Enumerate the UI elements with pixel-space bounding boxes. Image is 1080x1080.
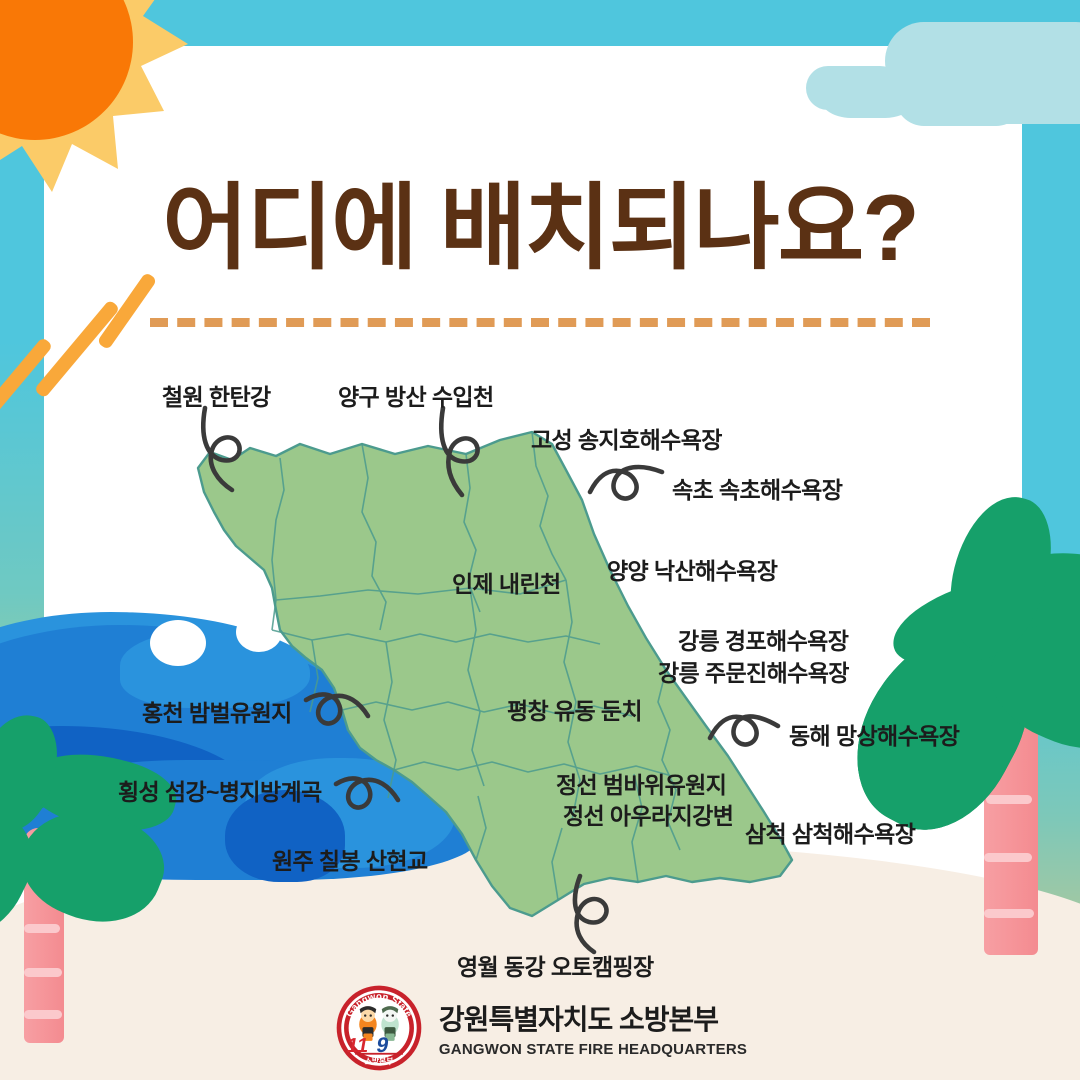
footer: Gangwon State 11: [0, 978, 1080, 1078]
map-label-jeongseon-auraji: 정선 아우라지강변: [563, 797, 733, 831]
map-label-yanggu: 양구 방산 수입천: [338, 378, 494, 412]
map-label-goseong: 고성 송지호해수욕장: [531, 421, 722, 455]
footer-org-kr: 강원특별자치도 소방본부: [439, 998, 747, 1038]
map-label-samcheok: 삼척 삼척해수욕장: [745, 815, 915, 849]
map-label-yeongwol: 영월 동강 오토캠핑장: [457, 948, 654, 982]
map-label-yangyang: 양양 낙산해수욕장: [607, 552, 777, 586]
map-label-donghae: 동해 망상해수욕장: [789, 717, 959, 751]
map-label-cheorwon: 철원 한탄강: [162, 378, 271, 412]
map-label-sokcho: 속초 속초해수욕장: [672, 471, 842, 505]
map-label-hongcheon: 홍천 밤벌유원지: [142, 694, 292, 728]
map-label-gangneung-jumunjin: 강릉 주문진해수욕장: [658, 654, 849, 688]
palm-tree-icon-right: [880, 505, 1080, 925]
poster-canvas: 어디에 배치되나요?: [0, 0, 1080, 1080]
logo-bottom-text: 소방본부: [365, 1056, 394, 1066]
map-label-hoengseong: 횡성 섬강~병지방계곡: [118, 773, 322, 807]
map-label-pyeongchang: 평창 유동 둔치: [507, 692, 642, 726]
page-title: 어디에 배치되나요?: [0, 152, 1080, 288]
map-label-gangneung-gyeongpo: 강릉 경포해수욕장: [678, 622, 848, 656]
dashed-divider: [150, 318, 930, 327]
palm-tree-icon-left: [0, 720, 140, 1020]
map-label-jeongseon-beombawi: 정선 범바위유원지: [556, 766, 726, 800]
footer-org-en: GANGWON STATE FIRE HEADQUARTERS: [439, 1041, 747, 1058]
fire-department-logo: Gangwon State 11: [333, 982, 425, 1074]
map-label-injae: 인제 내린천: [452, 565, 561, 599]
map-label-wonju: 원주 칠봉 산현교: [272, 842, 428, 876]
